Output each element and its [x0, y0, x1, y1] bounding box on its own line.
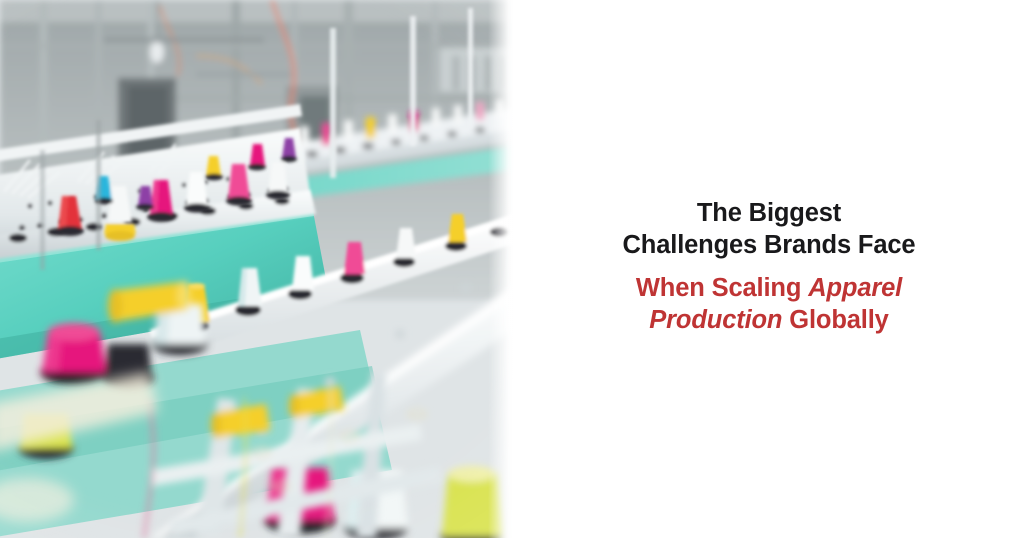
headline-panel: The Biggest Challenges Brands Face When … [514, 0, 1024, 538]
headline-secondary-line-2: Production Globally [559, 304, 979, 336]
headline-secondary-emphasis-2: Production [649, 306, 782, 334]
headline-primary: The Biggest Challenges Brands Face [559, 197, 979, 261]
headline-secondary-regular-1: When Scaling [636, 274, 808, 302]
headline-secondary: When Scaling Apparel Production Globally [559, 272, 979, 336]
headline-primary-line-2: Challenges Brands Face [559, 229, 979, 261]
factory-photo-illustration [0, 0, 514, 538]
headline-secondary-emphasis-1: Apparel [808, 274, 902, 302]
headline-secondary-regular-2: Globally [782, 306, 888, 334]
headline-primary-line-1: The Biggest [559, 197, 979, 229]
factory-photo [0, 0, 514, 538]
headline-secondary-line-1: When Scaling Apparel [559, 272, 979, 304]
banner-root: The Biggest Challenges Brands Face When … [0, 0, 1024, 538]
headline-block: The Biggest Challenges Brands Face When … [559, 197, 979, 342]
